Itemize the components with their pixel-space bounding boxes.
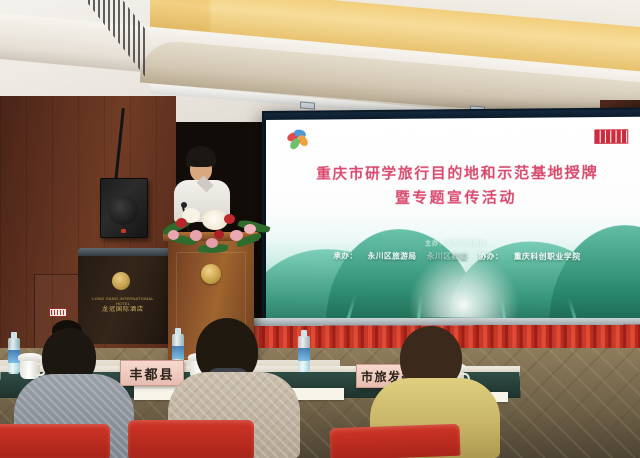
wall-speaker: [100, 178, 148, 238]
flower-pink: [230, 230, 243, 241]
bottle-label: [298, 348, 310, 361]
speaker-led-icon: [121, 229, 126, 233]
led-screen: 重庆市研学旅行目的地和示范基地授牌 暨专题宣传活动 主办：重庆市旅游局 承办：永…: [262, 107, 640, 329]
bottle-label: [172, 346, 184, 359]
floral-arrangement: [162, 200, 270, 256]
support-name: 重庆科创职业学院: [514, 252, 581, 261]
teacup-lid: [18, 353, 42, 361]
downlight-icon: [300, 101, 315, 109]
audience-chair: [329, 424, 460, 458]
screen-content: 重庆市研学旅行目的地和示范基地授牌 暨专题宣传活动 主办：重庆市旅游局 承办：永…: [266, 117, 640, 326]
flower-pink: [190, 230, 202, 241]
flower-red: [214, 230, 224, 239]
flower-pink: [244, 224, 256, 234]
organizer-name: 永川区旅游局: [368, 252, 417, 261]
flower-emblem-logo-icon: [285, 130, 311, 152]
presenter-fringe: [188, 155, 214, 167]
flower-pink: [168, 230, 179, 240]
flower-red: [224, 214, 235, 224]
wall-sign-icon: [49, 308, 67, 317]
screen-organizer-line: 承办：永川区旅游局永川区教委协办：重庆科创职业学院: [266, 250, 640, 262]
speaker-cone-icon: [108, 195, 138, 225]
mountain-landscape: [266, 221, 640, 326]
hotel-crest-icon: [112, 272, 130, 290]
screen-host-line: 主办：重庆市旅游局: [266, 238, 640, 248]
name-placard: 丰都县: [120, 360, 184, 386]
screen-title: 重庆市研学旅行目的地和示范基地授牌 暨专题宣传活动: [266, 163, 640, 213]
red-block-logo-icon: [594, 129, 628, 144]
organizer-label: 承办：: [333, 251, 357, 260]
teacup: [20, 358, 40, 379]
organizer-extra: 永川区教委: [427, 252, 468, 261]
audience-chair: [0, 424, 110, 458]
conference-hall-photo: LONG GANG INTERNATIONAL HOTEL 龙冠国际酒店: [0, 0, 640, 458]
podium-emblem-icon: [201, 264, 221, 284]
screen-title-line2: 暨专题宣传活动: [266, 187, 640, 212]
water-bottle: [298, 336, 310, 372]
audience-chair: [128, 420, 254, 458]
flower-pink: [206, 238, 218, 248]
flower-red: [176, 218, 187, 228]
hotel-name-cn: 龙冠国际酒店: [88, 304, 158, 313]
stacked-chairs: LONG GANG INTERNATIONAL HOTEL 龙冠国际酒店: [78, 248, 178, 344]
support-label: 协办：: [478, 252, 503, 261]
screen-title-line1: 重庆市研学旅行目的地和示范基地授牌: [266, 163, 640, 189]
